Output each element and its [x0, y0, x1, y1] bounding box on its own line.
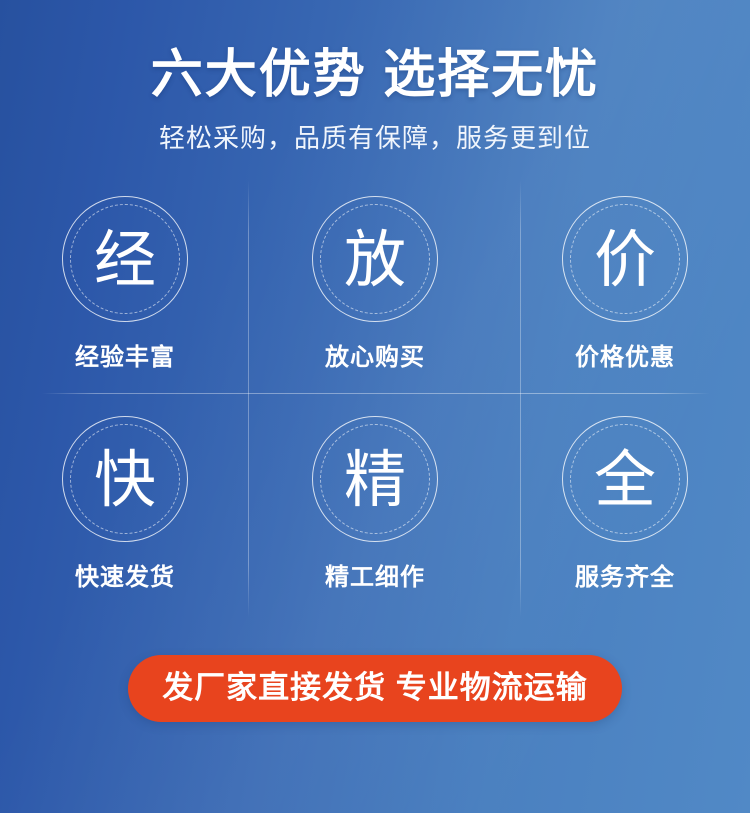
advantage-label: 价格优惠 — [575, 344, 675, 372]
advantage-item-confidence: 放 放心购买 — [250, 182, 500, 402]
banner-header: 六大优势 选择无忧 轻松采购，品质有保障，服务更到位 — [0, 0, 750, 154]
advantage-item-experience: 经 经验丰富 — [0, 182, 250, 402]
advantage-label: 服务齐全 — [575, 564, 675, 592]
advantage-circle-icon: 快 — [62, 416, 188, 542]
promo-banner: 六大优势 选择无忧 轻松采购，品质有保障，服务更到位 经 经验丰富 放 放心购买… — [0, 0, 750, 813]
page-subtitle: 轻松采购，品质有保障，服务更到位 — [0, 106, 750, 154]
advantage-circle-icon: 经 — [62, 196, 188, 322]
advantage-glyph: 快 — [94, 449, 156, 511]
advantage-glyph: 经 — [94, 229, 156, 291]
advantage-label: 放心购买 — [325, 344, 425, 372]
advantages-grid: 经 经验丰富 放 放心购买 价 价格优惠 快 快速发货 — [0, 182, 750, 622]
advantage-glyph: 全 — [594, 449, 656, 511]
advantage-glyph: 放 — [344, 229, 406, 291]
cta-banner[interactable]: 发厂家直接发货 专业物流运输 — [128, 655, 622, 722]
advantage-item-shipping: 快 快速发货 — [0, 402, 250, 622]
advantage-item-service: 全 服务齐全 — [500, 402, 750, 622]
advantage-glyph: 价 — [594, 229, 656, 291]
advantage-circle-icon: 放 — [312, 196, 438, 322]
advantage-circle-icon: 全 — [562, 416, 688, 542]
advantage-item-price: 价 价格优惠 — [500, 182, 750, 402]
cta-banner-wrapper: 发厂家直接发货 专业物流运输 — [0, 655, 750, 722]
advantage-circle-icon: 精 — [312, 416, 438, 542]
advantage-label: 经验丰富 — [75, 344, 175, 372]
advantage-item-craftsmanship: 精 精工细作 — [250, 402, 500, 622]
advantage-label: 精工细作 — [325, 564, 425, 592]
page-title: 六大优势 选择无忧 — [0, 0, 750, 106]
advantage-circle-icon: 价 — [562, 196, 688, 322]
advantage-label: 快速发货 — [75, 564, 175, 592]
advantage-glyph: 精 — [344, 449, 406, 511]
